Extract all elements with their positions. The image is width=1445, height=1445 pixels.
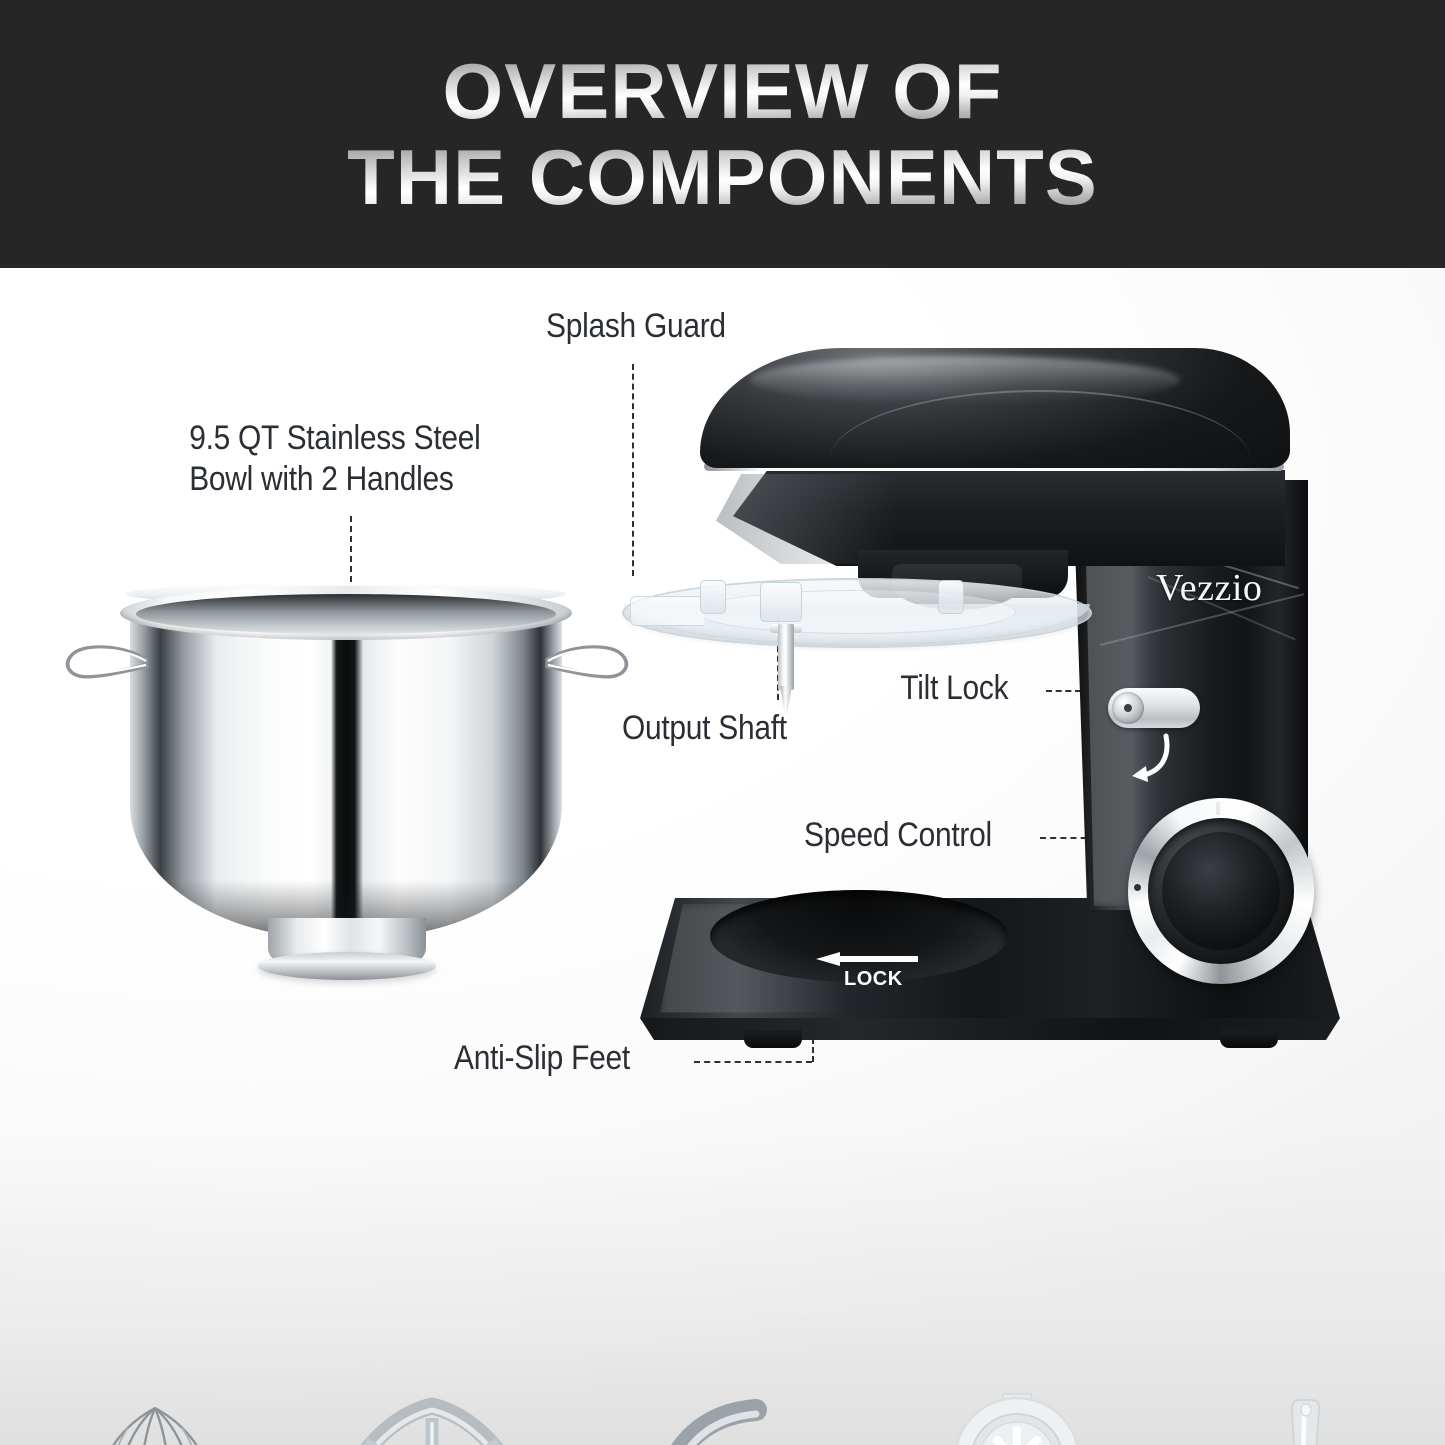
page-title-line-2: THE COMPONENTS	[347, 134, 1098, 220]
whisk-illustration	[10, 1388, 300, 1445]
callout-label-bowl: 9.5 QT Stainless Steel Bowl with 2 Handl…	[189, 418, 559, 500]
accessory-spatula: Spatula	[1160, 1388, 1445, 1445]
accessories-row: Whisk Beater	[0, 1388, 1445, 1445]
speed-control-dial-face[interactable]	[1162, 832, 1280, 950]
splash-guard-tab-left	[700, 580, 726, 614]
lock-label: LOCK	[844, 968, 903, 991]
bowl-interior	[136, 594, 556, 634]
mixer-head-gloss	[750, 356, 1180, 404]
speed-control-marker-dot	[1134, 884, 1141, 891]
bowl-pedestal-base	[258, 952, 436, 980]
accessory-beater: Beater	[287, 1388, 577, 1445]
beater-illustration	[287, 1388, 577, 1445]
tilt-rotation-arrow-icon	[1120, 732, 1180, 788]
product-stage: 9.5 QT Stainless Steel Bowl with 2 Handl…	[0, 268, 1445, 1445]
anti-slip-foot-rear	[1220, 1030, 1278, 1048]
accessory-whisk: Whisk	[10, 1388, 300, 1445]
spatula-illustration	[1160, 1388, 1445, 1445]
splash-guard-tab-center	[760, 582, 802, 622]
splash-guard-tab-right	[938, 580, 964, 614]
page-title-line-1: OVERVIEW OF	[443, 48, 1003, 134]
tilt-lock-screw-icon	[1124, 704, 1132, 712]
accessory-dough-hook: Dough Hook	[580, 1388, 870, 1445]
header-banner: OVERVIEW OF THE COMPONENTS	[0, 0, 1445, 268]
dough-hook-illustration	[580, 1388, 870, 1445]
stainless-steel-bowl	[62, 578, 632, 1008]
accessory-egg-white-separator: Egg White Separator	[872, 1388, 1162, 1445]
speed-control-indicator-tick	[1216, 802, 1220, 815]
splash-guard-pour-spout	[630, 596, 704, 626]
lock-marking: LOCK	[810, 950, 920, 996]
output-shaft-tip	[780, 686, 792, 714]
bowl-handle-left	[64, 644, 150, 684]
splash-guard-inner-ring	[696, 590, 1016, 634]
leader-line-bowl	[350, 516, 352, 582]
stand-mixer: LOCK Vezzio	[600, 328, 1380, 1048]
brand-logo: Vezzio	[1156, 566, 1316, 610]
bowl-body	[130, 606, 562, 938]
output-shaft	[778, 624, 794, 690]
anti-slip-foot-front	[744, 1030, 802, 1048]
leader-line-antislipfeet-horizontal	[694, 1061, 812, 1063]
egg-white-separator-illustration	[872, 1388, 1162, 1445]
lock-arrow-icon	[810, 950, 918, 968]
infographic-page: OVERVIEW OF THE COMPONENTS 9.5 QT Stainl…	[0, 0, 1445, 1445]
